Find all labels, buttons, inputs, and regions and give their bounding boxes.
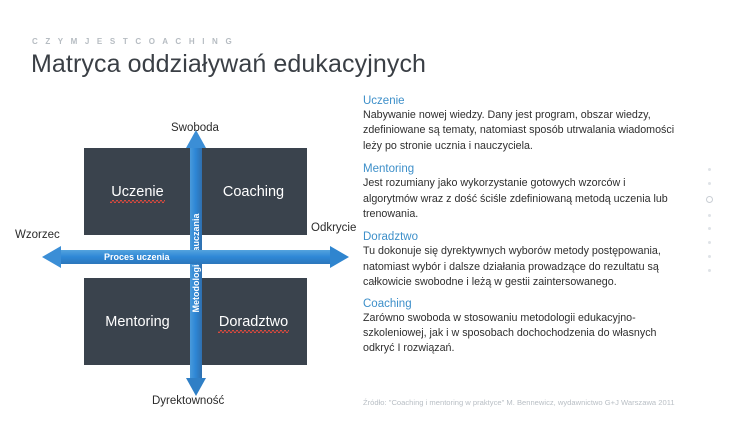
definition-heading: Mentoring — [363, 163, 683, 175]
horizontal-axis-label: Proces uczenia — [104, 250, 170, 264]
rail-dot-icon — [708, 182, 711, 185]
dot-rail-indicator[interactable] — [704, 168, 714, 272]
definition-mentoring: Mentoring Jest rozumiany jako wykorzysta… — [363, 163, 683, 222]
definitions-panel: Uczenie Nabywanie nowej wiedzy. Dany jes… — [363, 95, 683, 366]
definition-body: Zarówno swoboda w stosowaniu metodologii… — [363, 311, 683, 357]
arrow-head-left-icon — [42, 246, 61, 268]
quadrant-label: Mentoring — [105, 314, 169, 330]
quadrant-label: Coaching — [223, 184, 284, 200]
axis-label-right: Odkrycie — [311, 222, 356, 234]
arrow-shaft — [60, 250, 331, 264]
quadrant-mentoring[interactable]: Mentoring — [84, 278, 191, 365]
definition-body: Tu dokonuje się dyrektywnych wyborów met… — [363, 244, 683, 290]
quadrant-coaching[interactable]: Coaching — [200, 148, 307, 235]
rail-dot-icon — [708, 255, 711, 258]
rail-dot-icon — [708, 241, 711, 244]
rail-dot-icon — [708, 269, 711, 272]
definition-heading: Uczenie — [363, 95, 683, 107]
definition-doradztwo: Doradztwo Tu dokonuje się dyrektywnych w… — [363, 231, 683, 290]
rail-dot-icon — [708, 214, 711, 217]
eyebrow-label: C Z Y M J E S T C O A C H I N G — [32, 37, 234, 46]
axis-label-top: Swoboda — [171, 122, 219, 134]
axis-label-left: Wzorzec — [15, 229, 60, 241]
quadrant-uczenie[interactable]: Uczenie — [84, 148, 191, 235]
rail-dot-icon — [708, 168, 711, 171]
page-title: Matryca oddziaływań edukacyjnych — [31, 50, 426, 79]
definition-uczenie: Uczenie Nabywanie nowej wiedzy. Dany jes… — [363, 95, 683, 154]
source-citation: Źródło: "Coaching i mentoring w praktyce… — [363, 398, 675, 407]
quadrant-label: Uczenie — [111, 184, 163, 200]
arrow-head-right-icon — [330, 246, 349, 268]
rail-dot-active-icon — [706, 196, 713, 203]
definition-body: Jest rozumiany jako wykorzystanie gotowy… — [363, 176, 683, 222]
matrix-diagram: Uczenie Coaching Mentoring Doradztwo Met… — [0, 110, 350, 405]
quadrant-label: Doradztwo — [219, 314, 288, 330]
definition-heading: Coaching — [363, 298, 683, 310]
definition-coaching: Coaching Zarówno swoboda w stosowaniu me… — [363, 298, 683, 357]
definition-body: Nabywanie nowej wiedzy. Dany jest progra… — [363, 108, 683, 154]
arrow-head-down-icon — [186, 378, 206, 396]
axis-label-bottom: Dyrektowność — [152, 395, 224, 407]
rail-dot-icon — [708, 227, 711, 230]
quadrant-doradztwo[interactable]: Doradztwo — [200, 278, 307, 365]
definition-heading: Doradztwo — [363, 231, 683, 243]
horizontal-axis-arrow-icon: Proces uczenia — [42, 246, 349, 268]
